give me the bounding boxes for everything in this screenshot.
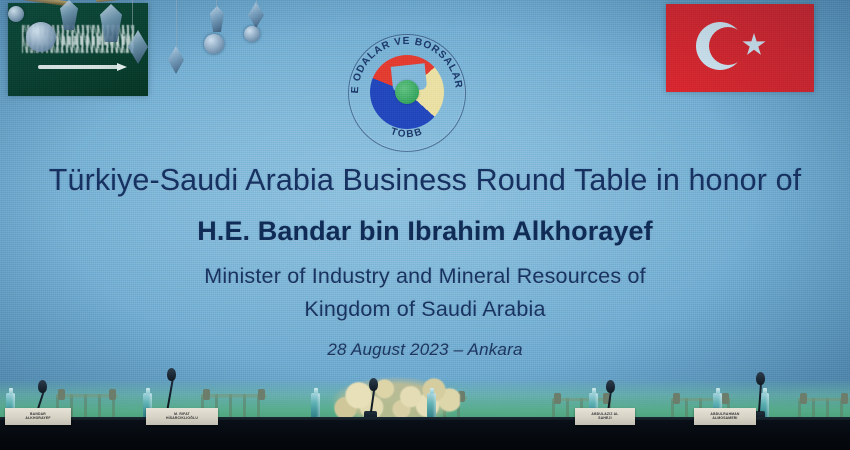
photo-frame: TÜRKİYE ODALAR VE BORSALAR BİRLİĞİ TOBB … [0, 0, 850, 450]
chair-post [203, 389, 210, 400]
water-bottle [427, 393, 436, 419]
chair-post [554, 393, 561, 404]
chair-post [58, 389, 65, 400]
chair-post [841, 393, 848, 404]
water-bottle [311, 393, 320, 419]
microphone-head [369, 378, 378, 391]
nameplate: ABDULAZIZ AL SAHEJI [575, 408, 635, 425]
crescent-icon [696, 22, 744, 70]
microphone-head [38, 380, 47, 393]
slide-honoree-name: H.E. Bandar bin Ibrahim Alkhorayef [0, 216, 850, 247]
shahada-inscription [22, 25, 134, 53]
nameplate-text: ABDULAZIZ AL SAHEJI [591, 412, 618, 421]
chair-post [673, 393, 680, 404]
chair-post [109, 389, 116, 400]
slide-date-location: 28 August 2023 – Ankara [0, 340, 850, 360]
chair-post [258, 389, 265, 400]
nameplate-text: BANDAR ALKHORAYEF [25, 412, 50, 421]
chair-post [722, 393, 729, 404]
microphone-head [756, 372, 765, 385]
nameplate: BANDAR ALKHORAYEF [5, 408, 71, 425]
saudi-arabia-flag [8, 3, 148, 96]
nameplate-text: M. RIFAT HİSARCIKLIOĞLU [166, 412, 198, 421]
microphone-head [606, 380, 615, 393]
nameplate: ABDULRAHMAN ALMOSAMERI [694, 408, 756, 425]
nameplate-text: ABDULRAHMAN ALMOSAMERI [710, 412, 739, 421]
sword-emblem [38, 65, 120, 69]
slide-role-line-1: Minister of Industry and Mineral Resourc… [0, 264, 850, 289]
chair-post [800, 393, 807, 404]
nameplate: M. RIFAT HİSARCIKLIOĞLU [146, 408, 218, 425]
turkey-flag [666, 4, 814, 92]
slide-role-line-2: Kingdom of Saudi Arabia [0, 297, 850, 322]
tobb-logo: TÜRKİYE ODALAR VE BORSALAR BİRLİĞİ TOBB [348, 34, 466, 152]
slide-headline: Türkiye-Saudi Arabia Business Round Tabl… [0, 163, 850, 198]
flower-arrangement [330, 376, 460, 422]
logo-green-core [395, 80, 419, 104]
